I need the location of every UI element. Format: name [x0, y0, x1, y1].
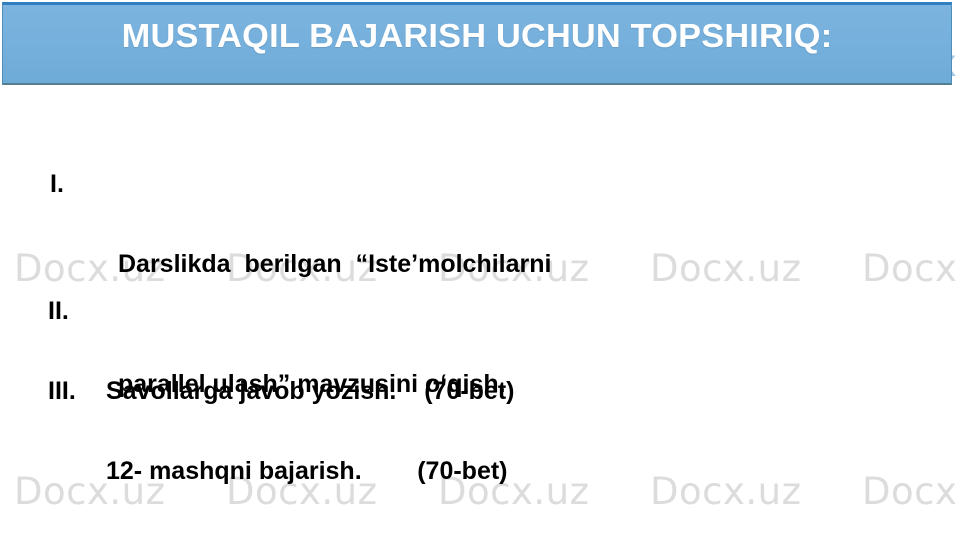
task-item-3: III. 12- mashqni bajarish. (70-bet) [48, 371, 508, 540]
task-marker: I. [50, 164, 118, 204]
task-marker: II. [48, 291, 106, 331]
slide-canvas: Docx.uzDocx.uzDocx.uzDocx.uzDocx.uz Docx… [0, 0, 960, 540]
task-marker: III. [48, 371, 106, 411]
page-reference: (70-bet) [417, 457, 507, 485]
task-list: I. Darslikda berilgan “Iste’molchilarni … [0, 0, 960, 540]
task-line: Darslikda berilgan “Iste’molchilarni [118, 244, 551, 284]
task-text: 12- mashqni bajarish. [106, 457, 362, 485]
task-body: 12- mashqni bajarish. (70-bet) [106, 371, 508, 540]
task-line: 12- mashqni bajarish. (70-bet) [106, 451, 508, 491]
